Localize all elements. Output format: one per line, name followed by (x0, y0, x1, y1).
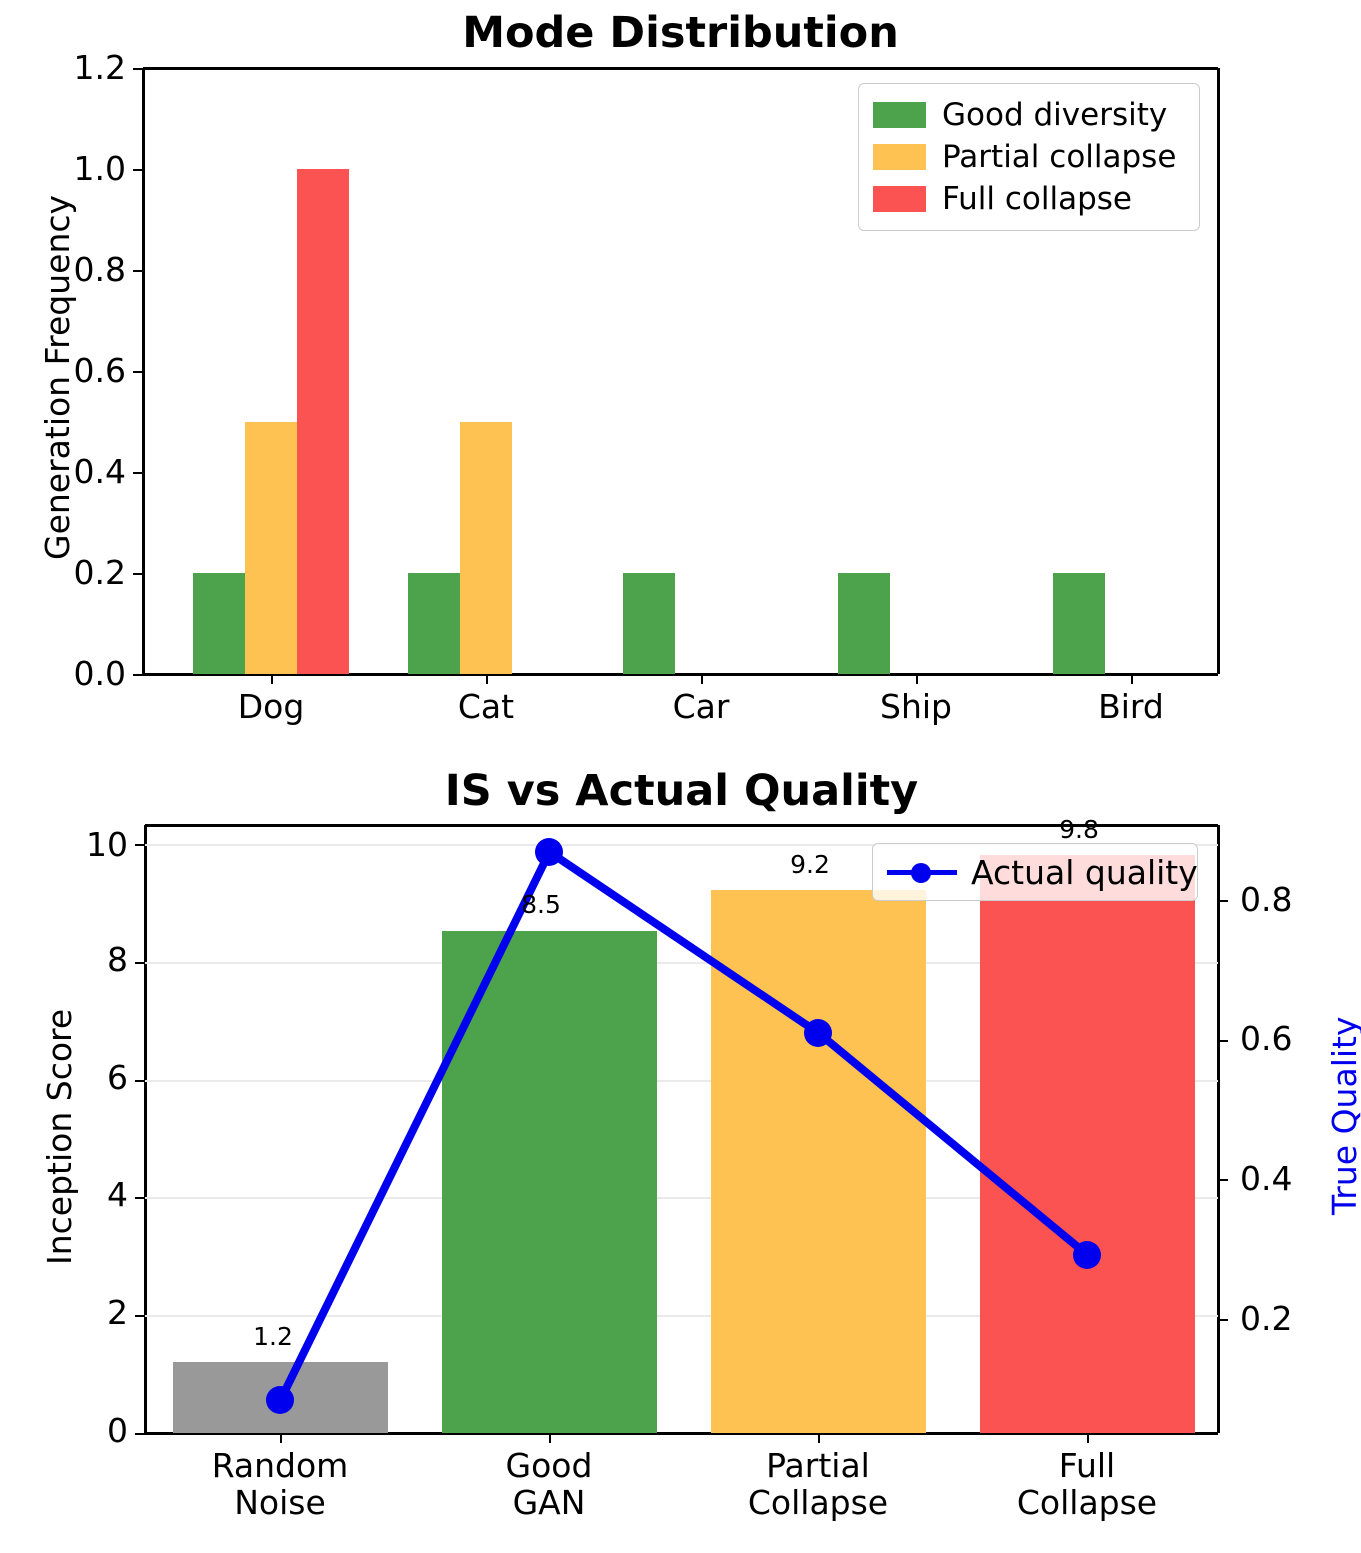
bottom-ytick-left-6: 6 (50, 1061, 128, 1094)
bottom-xtick-label-line2: GAN (429, 1484, 669, 1521)
top-xtick-label-dog: Dog (171, 688, 371, 725)
bottom-xtick-label-line1: Full (967, 1447, 1207, 1484)
bottom-ytick-mark-right (1218, 1179, 1228, 1181)
bar-cat-partial-collapse (460, 422, 512, 674)
top-ytick-2: 1.0 (48, 152, 126, 185)
data-point-good-gan (535, 838, 563, 866)
bar-value-label-random-noise: 1.2 (193, 1322, 353, 1351)
top-xtick-label-ship: Ship (816, 688, 1016, 725)
bar-value-label-partial-collapse: 9.2 (730, 850, 890, 879)
bottom-xtick-label-line1: Partial (698, 1447, 938, 1484)
bottom-ytick-right-08: 0.8 (1240, 883, 1330, 916)
bottom-ytick-mark-right (1218, 1319, 1228, 1321)
legend-swatch-good-diversity (873, 102, 926, 128)
legend-swatch-partial-collapse (873, 144, 926, 170)
bar-dog-good-diversity (193, 573, 245, 674)
legend-label-actual-quality: Actual quality (971, 853, 1198, 892)
bottom-ytick-left-2: 2 (50, 1296, 128, 1329)
bottom-xtick-label-line1: Good (429, 1447, 669, 1484)
bottom-ytick-left-8: 8 (50, 943, 128, 976)
bottom-xtick-label-full-collapse: Full Collapse (967, 1447, 1207, 1521)
bottom-chart-title: IS vs Actual Quality (145, 766, 1218, 816)
top-xtick-label-cat: Cat (386, 688, 586, 725)
legend-swatch-full-collapse (873, 186, 926, 212)
bottom-xtick-label-random-noise: Random Noise (160, 1447, 400, 1521)
bottom-ytick-right-02: 0.2 (1240, 1302, 1330, 1335)
top-plot-spine-right (1217, 68, 1220, 674)
bottom-xtick-mark (1087, 1433, 1089, 1443)
bar-value-label-full-collapse: 9.8 (999, 815, 1159, 844)
data-point-partial-collapse (804, 1019, 832, 1047)
bottom-chart-y-axis-label-left: Inception Score (40, 1009, 79, 1265)
bottom-xtick-label-line1: Random (160, 1447, 400, 1484)
legend-item-good-diversity[interactable]: Good diversity (873, 94, 1185, 136)
figure-canvas: Mode Distribution Generation Frequency 1… (0, 0, 1361, 1553)
bar-bird-good-diversity (1053, 573, 1105, 674)
bottom-chart-legend[interactable]: Actual quality (872, 843, 1198, 901)
bar-value-label-good-gan: 8.5 (461, 890, 621, 919)
top-xtick-mark (701, 674, 703, 684)
top-xtick-mark (486, 674, 488, 684)
bottom-ytick-mark-left (135, 1433, 145, 1435)
top-xtick-mark (1131, 674, 1133, 684)
legend-item-actual-quality[interactable]: Actual quality (887, 850, 1183, 894)
bottom-xtick-label-good-gan: Good GAN (429, 1447, 669, 1521)
legend-item-partial-collapse[interactable]: Partial collapse (873, 136, 1185, 178)
top-ytick-4: 0.6 (48, 354, 126, 387)
data-point-full-collapse (1073, 1241, 1101, 1269)
legend-label-full-collapse: Full collapse (942, 181, 1132, 217)
bottom-ytick-left-0: 0 (50, 1414, 128, 1447)
bottom-xtick-mark (818, 1433, 820, 1443)
top-ytick-3: 0.8 (48, 253, 126, 286)
legend-label-good-diversity: Good diversity (942, 97, 1167, 133)
top-xtick-mark (271, 674, 273, 684)
bar-car-good-diversity (623, 573, 675, 674)
bottom-ytick-mark-right (1218, 1040, 1228, 1042)
bar-ship-good-diversity (838, 573, 890, 674)
bar-cat-good-diversity (408, 573, 460, 674)
top-chart-legend[interactable]: Good diversity Partial collapse Full col… (858, 83, 1200, 231)
bar-dog-full-collapse (297, 169, 349, 674)
top-ytick-7: 0.0 (48, 657, 126, 690)
top-plot-spine-left (142, 68, 145, 674)
bottom-ytick-right-06: 0.6 (1240, 1022, 1330, 1055)
top-xtick-label-bird: Bird (1031, 688, 1231, 725)
top-xtick-label-car: Car (601, 688, 801, 725)
legend-line-marker-icon (887, 859, 957, 885)
top-ytick-mark (133, 674, 143, 676)
top-ytick-6: 0.2 (48, 556, 126, 589)
bottom-ytick-left-10: 10 (50, 828, 128, 861)
bottom-ytick-left-4: 4 (50, 1178, 128, 1211)
bottom-xtick-label-line2: Noise (160, 1484, 400, 1521)
top-ytick-1: 1.2 (48, 51, 126, 84)
bottom-ytick-right-04: 0.4 (1240, 1162, 1330, 1195)
top-ytick-5: 0.4 (48, 455, 126, 488)
bottom-xtick-label-partial-collapse: Partial Collapse (698, 1447, 938, 1521)
legend-label-partial-collapse: Partial collapse (942, 139, 1176, 175)
bottom-xtick-mark (549, 1433, 551, 1443)
top-xtick-mark (916, 674, 918, 684)
bottom-xtick-label-line2: Collapse (698, 1484, 938, 1521)
bottom-xtick-label-line2: Collapse (967, 1484, 1207, 1521)
legend-item-full-collapse[interactable]: Full collapse (873, 178, 1185, 220)
top-plot-spine-top (143, 67, 1218, 70)
bar-dog-partial-collapse (245, 422, 297, 674)
data-point-random-noise (266, 1386, 294, 1414)
bottom-chart-y-axis-label-right: True Quality (1325, 1017, 1361, 1216)
top-chart-title: Mode Distribution (143, 8, 1218, 58)
bottom-ytick-mark-right (1218, 900, 1228, 902)
bottom-xtick-mark (280, 1433, 282, 1443)
